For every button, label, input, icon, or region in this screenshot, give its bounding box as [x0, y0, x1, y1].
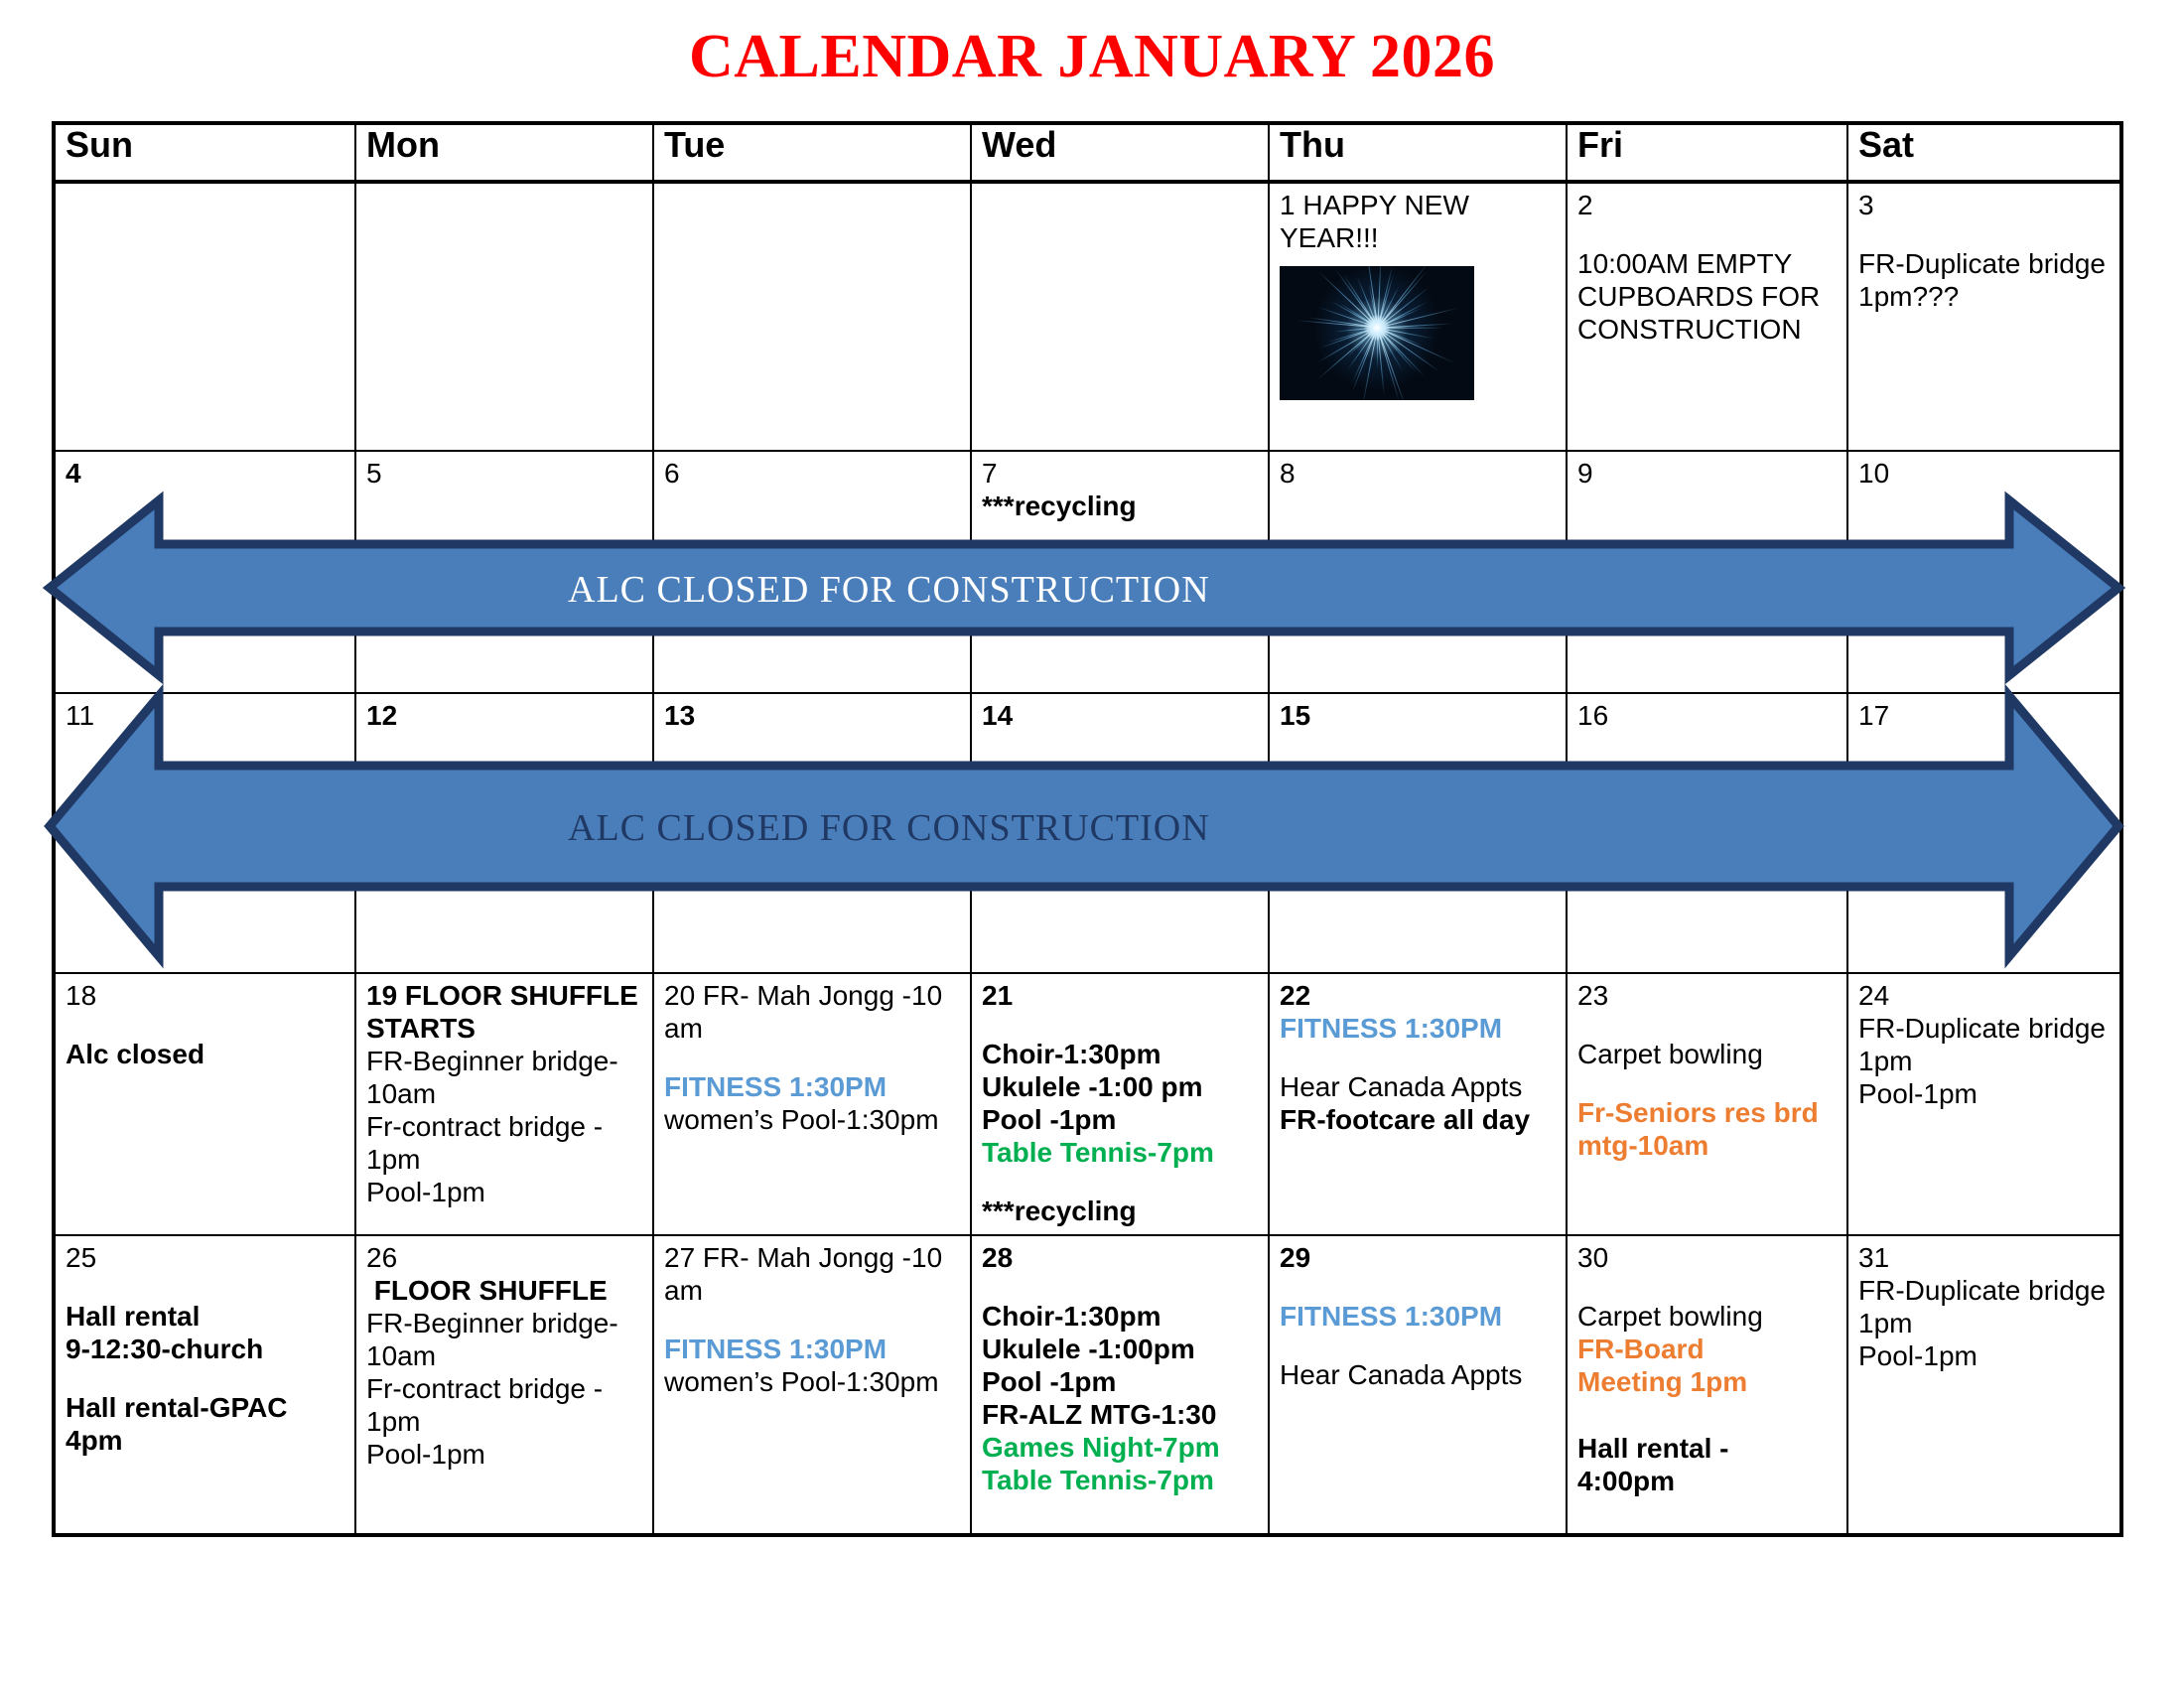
day-number-value: 22: [1280, 980, 1310, 1011]
day-cell-16[interactable]: 16: [1567, 693, 1847, 973]
weekday-header-sat: Sat: [1847, 123, 2121, 182]
calendar-table: Sun Mon Tue Wed Thu Fri Sat 1 HAPPY NEWY…: [52, 121, 2123, 1537]
day-cell-empty[interactable]: [653, 182, 971, 451]
day-cell-5[interactable]: 5: [355, 451, 653, 693]
event-text: FR-ALZ MTG-1:30: [982, 1398, 1260, 1431]
day-number-value: 27: [664, 1242, 695, 1273]
day-number-value: 23: [1577, 980, 1608, 1011]
event-text: FITNESS 1:30PM: [664, 1333, 962, 1365]
day-number-13: 13: [664, 699, 962, 732]
weekday-header-fri: Fri: [1567, 123, 1847, 182]
day-cell-23[interactable]: 23Carpet bowlingFr-Seniors res brd mtg-1…: [1567, 973, 1847, 1235]
day-number-19: 19 FLOOR SHUFFLE: [366, 979, 644, 1012]
day-cell-4[interactable]: 4: [54, 451, 355, 693]
day-cell-21[interactable]: 21Choir-1:30pmUkulele -1:00 pmPool -1pmT…: [971, 973, 1269, 1235]
day-number-value: 24: [1858, 980, 1889, 1011]
day-cell-30[interactable]: 30Carpet bowlingFR-Board Meeting 1pmHall…: [1567, 1235, 1847, 1535]
week-row-3: 11121314151617: [54, 693, 2121, 973]
day-number-18: 18: [66, 979, 346, 1012]
day-number-21: 21: [982, 979, 1260, 1012]
event-text: FLOOR SHUFFLE: [366, 1274, 644, 1307]
day-inline-title-line2: am: [664, 1274, 962, 1307]
event-text: FR-Duplicate bridge 1pm Pool-1pm: [1858, 1274, 2112, 1372]
day-number-value: 31: [1858, 1242, 1889, 1273]
day-cell-7[interactable]: 7***recycling: [971, 451, 1269, 693]
event-text: Hear Canada Appts: [1280, 1070, 1558, 1103]
day-number-value: 9: [1577, 458, 1593, 489]
event-text: Carpet bowling: [1577, 1300, 1839, 1333]
day-number-value: 11: [66, 700, 94, 731]
day-number-28: 28: [982, 1241, 1260, 1274]
day-cell-empty[interactable]: [971, 182, 1269, 451]
day-cell-13[interactable]: 13: [653, 693, 971, 973]
day-number-value: 8: [1280, 458, 1296, 489]
weekday-header-sun: Sun: [54, 123, 355, 182]
event-text: Games Night-7pm: [982, 1431, 1260, 1464]
day-number-value: 12: [366, 700, 397, 731]
day-cell-27[interactable]: 27 FR- Mah Jongg -10amFITNESS 1:30PMwome…: [653, 1235, 971, 1535]
event-text: FR-Beginner bridge- 10am Fr-contract bri…: [366, 1307, 644, 1471]
weekday-header-tue: Tue: [653, 123, 971, 182]
day-number-4: 4: [66, 457, 346, 490]
weekday-header-wed: Wed: [971, 123, 1269, 182]
day-number-value: 17: [1858, 700, 1889, 731]
week-row-1: 1 HAPPY NEWYEAR!!!210:00AM EMPTY CUPBOAR…: [54, 182, 2121, 451]
event-text: FR-Duplicate bridge 1pm???: [1858, 247, 2112, 313]
day-number-value: 26: [366, 1242, 397, 1273]
day-number-29: 29: [1280, 1241, 1558, 1274]
day-number-value: 3: [1858, 190, 1874, 220]
day-cell-1[interactable]: 1 HAPPY NEWYEAR!!!: [1269, 182, 1567, 451]
day-inline-title-line2: am: [664, 1012, 962, 1045]
day-number-value: 21: [982, 980, 1013, 1011]
weekday-header-thu: Thu: [1269, 123, 1567, 182]
fireworks-image: [1280, 266, 1474, 400]
event-text: Ukulele -1:00 pm: [982, 1070, 1260, 1103]
day-cell-20[interactable]: 20 FR- Mah Jongg -10amFITNESS 1:30PMwome…: [653, 973, 971, 1235]
day-cell-10[interactable]: 10: [1847, 451, 2121, 693]
event-text: Hear Canada Appts: [1280, 1358, 1558, 1391]
event-text: ***recycling: [982, 490, 1260, 522]
day-cell-31[interactable]: 31FR-Duplicate bridge 1pm Pool-1pm: [1847, 1235, 2121, 1535]
weekday-header-row: Sun Mon Tue Wed Thu Fri Sat: [54, 123, 2121, 182]
event-text: FR-Board Meeting 1pm: [1577, 1333, 1839, 1398]
day-inline-title-line2: STARTS: [366, 1012, 644, 1045]
day-cell-17[interactable]: 17: [1847, 693, 2121, 973]
event-text: Ukulele -1:00pm: [982, 1333, 1260, 1365]
day-inline-title: FR- Mah Jongg -10: [695, 1242, 942, 1273]
day-number-15: 15: [1280, 699, 1558, 732]
event-text: 10:00AM EMPTY CUPBOARDS FOR CONSTRUCTION: [1577, 247, 1839, 346]
day-number-value: 20: [664, 980, 695, 1011]
event-text: Choir-1:30pm: [982, 1300, 1260, 1333]
event-text: Pool -1pm: [982, 1365, 1260, 1398]
day-cell-25[interactable]: 25Hall rental 9-12:30-churchHall rental-…: [54, 1235, 355, 1535]
event-text: women’s Pool-1:30pm: [664, 1103, 962, 1136]
day-cell-15[interactable]: 15: [1269, 693, 1567, 973]
week-row-4: 18Alc closed19 FLOOR SHUFFLESTARTSFR-Beg…: [54, 973, 2121, 1235]
day-number-24: 24: [1858, 979, 2112, 1012]
day-number-value: 19: [366, 980, 397, 1011]
day-number-16: 16: [1577, 699, 1839, 732]
day-number-11: 11: [66, 699, 346, 732]
event-text: Table Tennis-7pm: [982, 1136, 1260, 1169]
day-inline-title-line2: YEAR!!!: [1280, 221, 1558, 254]
day-cell-9[interactable]: 9: [1567, 451, 1847, 693]
day-number-value: 30: [1577, 1242, 1608, 1273]
day-number-value: 18: [66, 980, 96, 1011]
day-number-2: 2: [1577, 189, 1839, 221]
day-cell-26[interactable]: 26 FLOOR SHUFFLEFR-Beginner bridge- 10am…: [355, 1235, 653, 1535]
day-cell-18[interactable]: 18Alc closed: [54, 973, 355, 1235]
day-cell-12[interactable]: 12: [355, 693, 653, 973]
day-number-12: 12: [366, 699, 644, 732]
day-number-5: 5: [366, 457, 644, 490]
page-title: CALENDAR JANUARY 2026: [0, 22, 2184, 92]
event-text: women’s Pool-1:30pm: [664, 1365, 962, 1398]
event-text: Hall rental 9-12:30-church: [66, 1300, 346, 1365]
day-number-17: 17: [1858, 699, 2112, 732]
day-number-14: 14: [982, 699, 1260, 732]
event-text: FITNESS 1:30PM: [664, 1070, 962, 1103]
day-inline-title: FR- Mah Jongg -10: [695, 980, 942, 1011]
event-text: Fr-Seniors res brd mtg-10am: [1577, 1096, 1839, 1162]
day-cell-empty[interactable]: [355, 182, 653, 451]
day-number-8: 8: [1280, 457, 1558, 490]
day-number-9: 9: [1577, 457, 1839, 490]
event-text: FR-footcare all day: [1280, 1103, 1558, 1136]
week-row-5: 25Hall rental 9-12:30-churchHall rental-…: [54, 1235, 2121, 1535]
day-number-value: 1: [1280, 190, 1296, 220]
calendar-container: Sun Mon Tue Wed Thu Fri Sat 1 HAPPY NEWY…: [52, 121, 2119, 1490]
day-number-3: 3: [1858, 189, 2112, 221]
day-number-value: 5: [366, 458, 382, 489]
event-text: ***recycling: [982, 1195, 1260, 1227]
day-number-value: 29: [1280, 1242, 1310, 1273]
day-cell-3[interactable]: 3FR-Duplicate bridge 1pm???: [1847, 182, 2121, 451]
event-text: FITNESS 1:30PM: [1280, 1300, 1558, 1333]
day-number-value: 28: [982, 1242, 1013, 1273]
event-text: Table Tennis-7pm: [982, 1464, 1260, 1496]
day-cell-24[interactable]: 24FR-Duplicate bridge 1pm Pool-1pm: [1847, 973, 2121, 1235]
day-cell-22[interactable]: 22FITNESS 1:30PMHear Canada ApptsFR-foot…: [1269, 973, 1567, 1235]
day-number-value: 6: [664, 458, 680, 489]
day-number-value: 14: [982, 700, 1013, 731]
day-cell-11[interactable]: 11: [54, 693, 355, 973]
day-cell-28[interactable]: 28Choir-1:30pmUkulele -1:00pmPool -1pmFR…: [971, 1235, 1269, 1535]
event-text: FITNESS 1:30PM: [1280, 1012, 1558, 1045]
event-text: FR-Beginner bridge- 10am Fr-contract bri…: [366, 1045, 644, 1208]
day-cell-empty[interactable]: [54, 182, 355, 451]
day-cell-2[interactable]: 210:00AM EMPTY CUPBOARDS FOR CONSTRUCTIO…: [1567, 182, 1847, 451]
day-cell-19[interactable]: 19 FLOOR SHUFFLESTARTSFR-Beginner bridge…: [355, 973, 653, 1235]
day-number-31: 31: [1858, 1241, 2112, 1274]
day-number-value: 25: [66, 1242, 96, 1273]
event-text: Pool -1pm: [982, 1103, 1260, 1136]
day-number-value: 4: [66, 458, 81, 489]
event-text: Hall rental - 4:00pm: [1577, 1432, 1839, 1497]
day-number-26: 26: [366, 1241, 644, 1274]
day-number-7: 7: [982, 457, 1260, 490]
calendar-body: 1 HAPPY NEWYEAR!!!210:00AM EMPTY CUPBOAR…: [54, 182, 2121, 1535]
day-number-1: 1 HAPPY NEW: [1280, 189, 1558, 221]
day-number-value: 7: [982, 458, 998, 489]
day-number-25: 25: [66, 1241, 346, 1274]
day-number-20: 20 FR- Mah Jongg -10: [664, 979, 962, 1012]
day-number-value: 13: [664, 700, 695, 731]
day-number-10: 10: [1858, 457, 2112, 490]
day-number-value: 15: [1280, 700, 1310, 731]
day-number-value: 16: [1577, 700, 1608, 731]
event-text: FR-Duplicate bridge 1pm Pool-1pm: [1858, 1012, 2112, 1110]
weekday-header-mon: Mon: [355, 123, 653, 182]
day-cell-14[interactable]: 14: [971, 693, 1269, 973]
week-row-2: 4567***recycling8910: [54, 451, 2121, 693]
day-cell-8[interactable]: 8: [1269, 451, 1567, 693]
day-cell-6[interactable]: 6: [653, 451, 971, 693]
day-number-6: 6: [664, 457, 962, 490]
day-number-23: 23: [1577, 979, 1839, 1012]
day-inline-title: FLOOR SHUFFLE: [397, 980, 638, 1011]
day-number-27: 27 FR- Mah Jongg -10: [664, 1241, 962, 1274]
event-text: Alc closed: [66, 1038, 346, 1070]
event-text: Choir-1:30pm: [982, 1038, 1260, 1070]
event-text: Carpet bowling: [1577, 1038, 1839, 1070]
day-cell-29[interactable]: 29FITNESS 1:30PMHear Canada Appts: [1269, 1235, 1567, 1535]
day-inline-title: HAPPY NEW: [1296, 190, 1469, 220]
day-number-22: 22: [1280, 979, 1558, 1012]
day-number-value: 10: [1858, 458, 1889, 489]
event-text: Hall rental-GPAC 4pm: [66, 1391, 346, 1457]
day-number-value: 2: [1577, 190, 1593, 220]
day-number-30: 30: [1577, 1241, 1839, 1274]
